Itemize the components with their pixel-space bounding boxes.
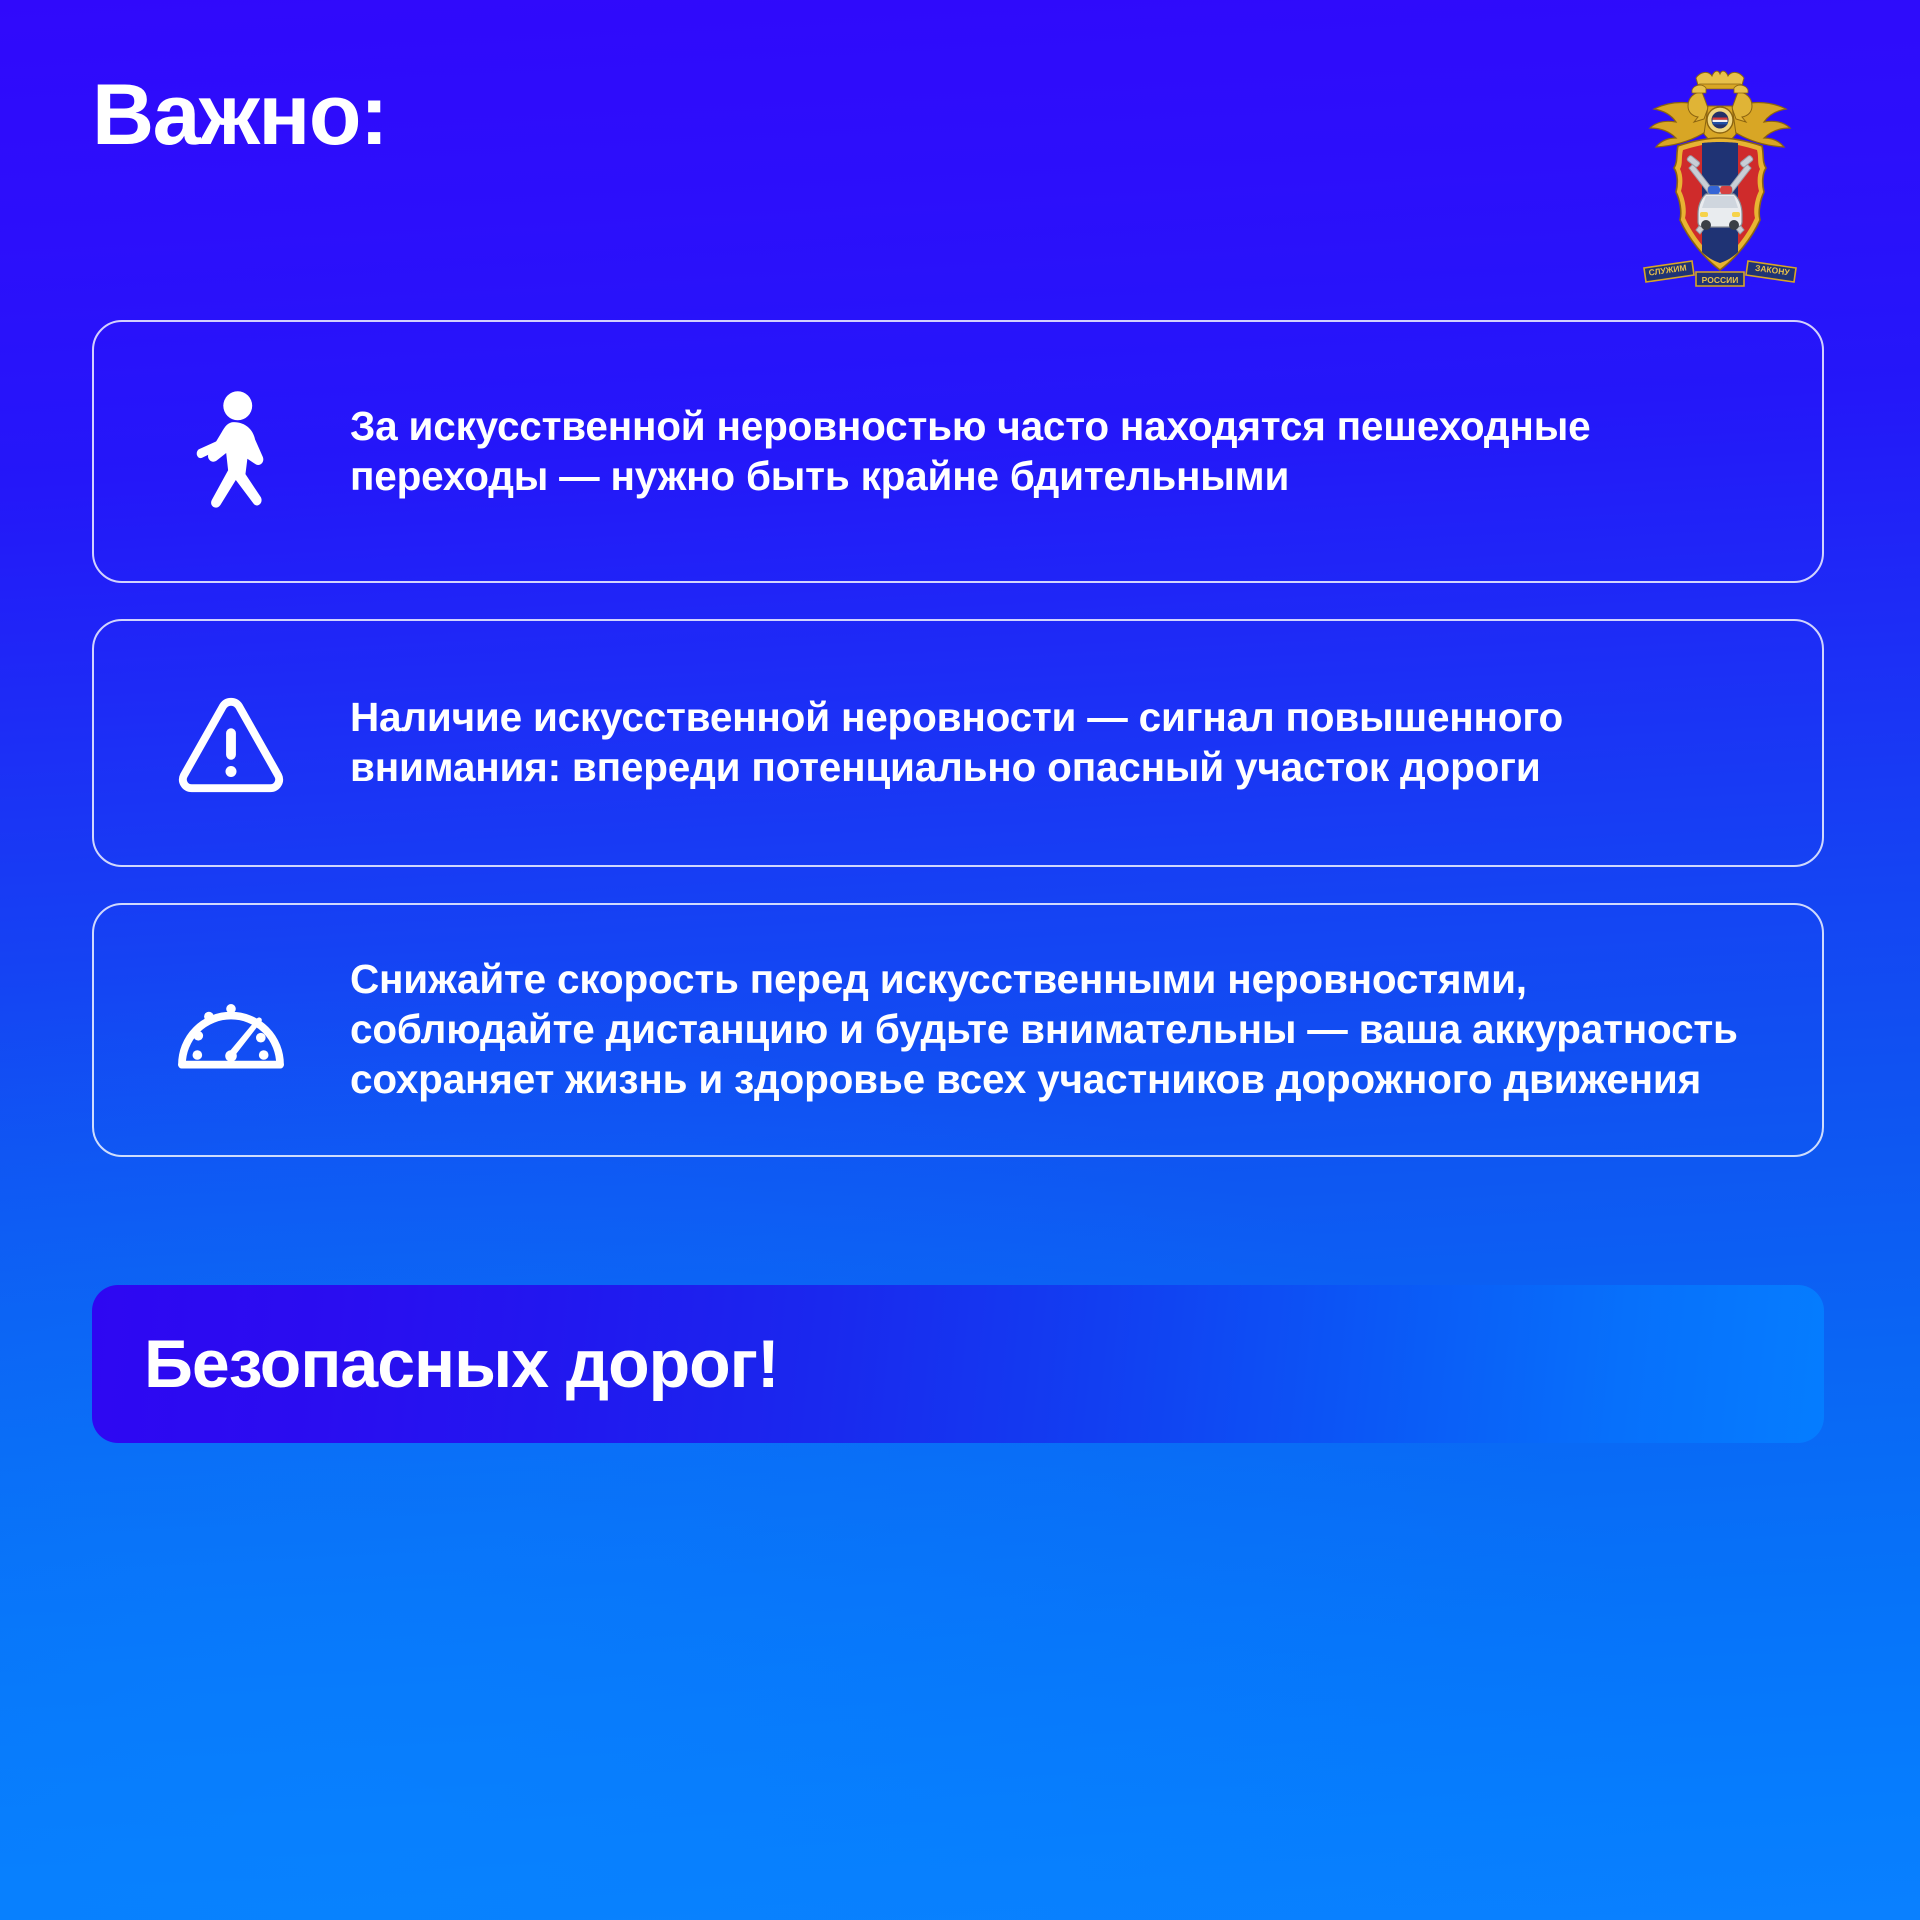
tip-card-2-text: Наличие искусственной неровности — сигна… <box>350 693 1700 793</box>
tip-card-1: За искусственной неровностью часто наход… <box>92 320 1824 583</box>
tip-card-1-text: За искусственной неровностью часто наход… <box>350 402 1700 502</box>
page-title: Важно: <box>92 72 387 158</box>
warning-triangle-icon <box>156 668 306 818</box>
poster-root: Важно: <box>0 0 1920 1920</box>
mvd-gibdd-emblem: СЛУЖИМ РОССИИ ЗАКОНУ <box>1632 62 1808 292</box>
tip-card-3-text: Снижайте скорость перед искусственными н… <box>350 955 1762 1104</box>
svg-text:РОССИИ: РОССИИ <box>1702 275 1739 285</box>
tip-card-2: Наличие искусственной неровности — сигна… <box>92 619 1824 867</box>
pedestrian-walking-icon <box>156 377 306 527</box>
safe-roads-banner: Безопасных дорог! <box>92 1285 1824 1443</box>
tip-card-3: Снижайте скорость перед искусственными н… <box>92 903 1824 1157</box>
tips-list: За искусственной неровностью часто наход… <box>92 320 1824 1157</box>
speedometer-icon <box>156 955 306 1105</box>
safe-roads-banner-text: Безопасных дорог! <box>144 1330 779 1398</box>
